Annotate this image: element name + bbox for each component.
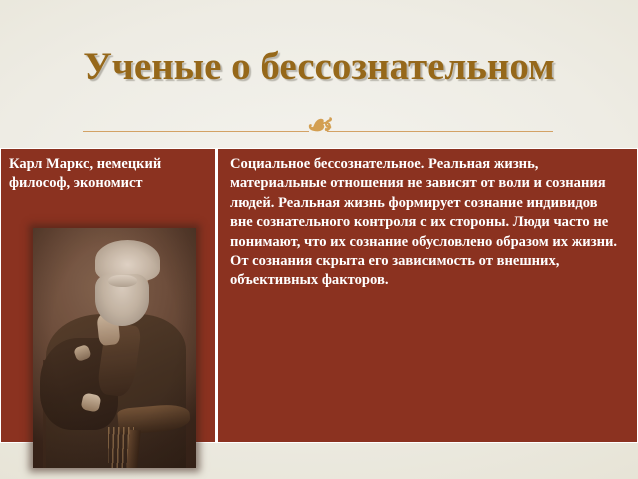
presentation-slide: Ученые о бессознательном ☙ Карл Маркс, н… [0,0,638,479]
photo-vignette [33,228,196,468]
description-text: Социальное бессознательное. Реальная жиз… [230,155,623,291]
decorative-flourish-ornament-icon: ☙ [303,113,334,139]
table-cell-description: Социальное бессознательное. Реальная жиз… [218,148,638,443]
divider-rule-right [327,131,553,132]
divider-rule-left [83,131,309,132]
portrait-photo-karl-marx [33,228,196,468]
portrait-photo-frame [33,228,196,468]
person-caption: Карл Маркс, немецкий философ, экономист [9,155,207,193]
ornament-divider: ☙ [83,116,553,146]
page-title: Ученые о бессознательном [0,44,638,90]
title-block: Ученые о бессознательном [0,44,638,90]
